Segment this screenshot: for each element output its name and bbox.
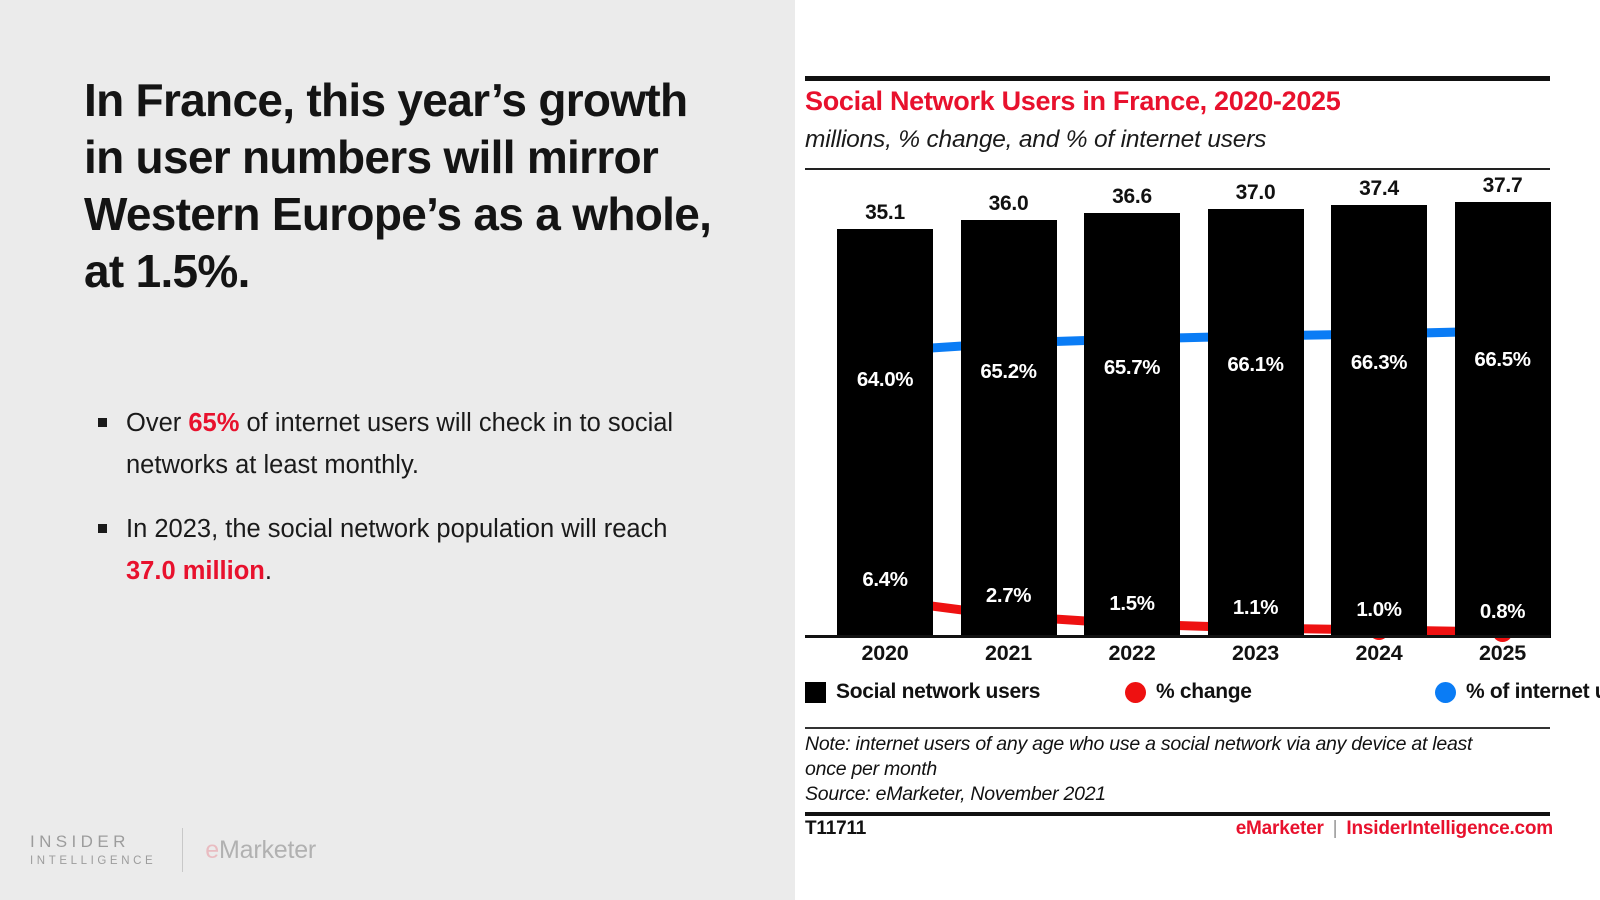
left-insight-panel: In France, this year’s growth in user nu… (0, 0, 795, 900)
x-tick-2021: 2021 (946, 641, 1072, 666)
legend-dot-icon (1435, 682, 1456, 703)
chart-id: T11711 (805, 818, 866, 840)
bullet-highlight: 37.0 million (126, 557, 265, 585)
rule-above-note (805, 727, 1550, 729)
chart-note: Note: internet users of any age who use … (805, 732, 1555, 807)
pct-change-label-2022: 1.5% (1072, 592, 1192, 616)
internet-users-label-2021: 65.2% (949, 360, 1069, 384)
pct-change-label-2023: 1.1% (1196, 596, 1316, 620)
x-tick-2023: 2023 (1193, 641, 1319, 666)
bar-value-label-2021: 36.0 (949, 192, 1069, 216)
brand-insiderintelligence[interactable]: InsiderIntelligence.com (1346, 818, 1553, 840)
chart-subtitle: millions, % change, and % of internet us… (805, 126, 1565, 154)
emarketer-wordmark: eMarketer (205, 836, 316, 865)
bullet-text-pre: Over (126, 409, 188, 437)
logo-line-intelligence: INTELLIGENCE (30, 854, 156, 869)
rule-under-subtitle (805, 168, 1550, 170)
chart-title: Social Network Users in France, 2020-202… (805, 86, 1565, 117)
legend-label: Social network users (836, 680, 1040, 704)
brand-footer: eMarketer | InsiderIntelligence.com (1236, 818, 1553, 840)
page-title: In France, this year’s growth in user nu… (84, 72, 724, 300)
emarketer-rest: Marketer (219, 836, 316, 864)
legend-item-3[interactable]: % of internet users (1435, 680, 1600, 704)
pct-change-label-2021: 2.7% (949, 584, 1069, 608)
note-line-2: once per month (805, 757, 1555, 782)
insider-intelligence-logo: INSIDER INTELLIGENCE eMarketer (30, 828, 316, 872)
bar-2025 (1455, 202, 1551, 638)
bullet-highlight: 65% (188, 409, 239, 437)
legend-square-icon (805, 682, 826, 703)
plot-area: 35.136.036.637.037.437.764.0%65.2%65.7%6… (805, 178, 1553, 638)
legend-label: % change (1156, 680, 1252, 704)
bar-value-label-2023: 37.0 (1196, 181, 1316, 205)
internet-users-label-2022: 65.7% (1072, 356, 1192, 380)
pct-change-label-2020: 6.4% (825, 568, 945, 592)
x-tick-2022: 2022 (1069, 641, 1195, 666)
list-item: Over 65% of internet users will check in… (96, 402, 696, 486)
bullet-list: Over 65% of internet users will check in… (96, 402, 696, 614)
chart-footer: T11711 eMarketer | InsiderIntelligence.c… (805, 818, 1553, 844)
legend-label: % of internet users (1466, 680, 1600, 704)
brand-separator: | (1333, 818, 1338, 840)
x-tick-2020: 2020 (822, 641, 948, 666)
bullet-marker-icon (98, 418, 107, 427)
bar-2022 (1084, 213, 1180, 638)
note-line-1: Note: internet users of any age who use … (805, 732, 1555, 757)
bar-2021 (961, 220, 1057, 638)
pct-change-label-2024: 1.0% (1319, 598, 1439, 622)
logo-line-insider: INSIDER (30, 831, 156, 853)
chart-card: Social Network Users in France, 2020-202… (800, 0, 1600, 900)
x-tick-2025: 2025 (1440, 641, 1566, 666)
emarketer-e: e (205, 836, 219, 864)
bar-value-label-2025: 37.7 (1443, 174, 1563, 198)
legend-item-2[interactable]: % change (1125, 680, 1252, 704)
bar-value-label-2020: 35.1 (825, 201, 945, 225)
note-source: Source: eMarketer, November 2021 (805, 782, 1555, 807)
chart-legend: Social network users% change% of interne… (805, 680, 1553, 708)
internet-users-label-2025: 66.5% (1443, 348, 1563, 372)
internet-users-label-2024: 66.3% (1319, 351, 1439, 375)
right-chart-panel: Social Network Users in France, 2020-202… (795, 0, 1600, 900)
legend-dot-icon (1125, 682, 1146, 703)
bar-2024 (1331, 205, 1427, 638)
logo-divider (182, 828, 183, 872)
bullet-text-pre: In 2023, the social network population w… (126, 515, 668, 543)
bar-2023 (1208, 209, 1304, 638)
internet-users-label-2023: 66.1% (1196, 353, 1316, 377)
insider-wordmark: INSIDER INTELLIGENCE (30, 831, 156, 869)
list-item: In 2023, the social network population w… (96, 508, 696, 592)
pct-change-label-2025: 0.8% (1443, 600, 1563, 624)
bullet-marker-icon (98, 524, 107, 533)
x-tick-2024: 2024 (1316, 641, 1442, 666)
rule-footer (805, 812, 1550, 816)
bar-value-label-2024: 37.4 (1319, 177, 1439, 201)
slide: In France, this year’s growth in user nu… (0, 0, 1600, 900)
bullet-text-post: . (265, 557, 272, 585)
x-axis-line (805, 635, 1550, 638)
bar-value-label-2022: 36.6 (1072, 185, 1192, 209)
legend-item-1[interactable]: Social network users (805, 680, 1040, 704)
rule-top (805, 76, 1550, 81)
internet-users-label-2020: 64.0% (825, 368, 945, 392)
brand-emarketer: eMarketer (1236, 818, 1324, 840)
